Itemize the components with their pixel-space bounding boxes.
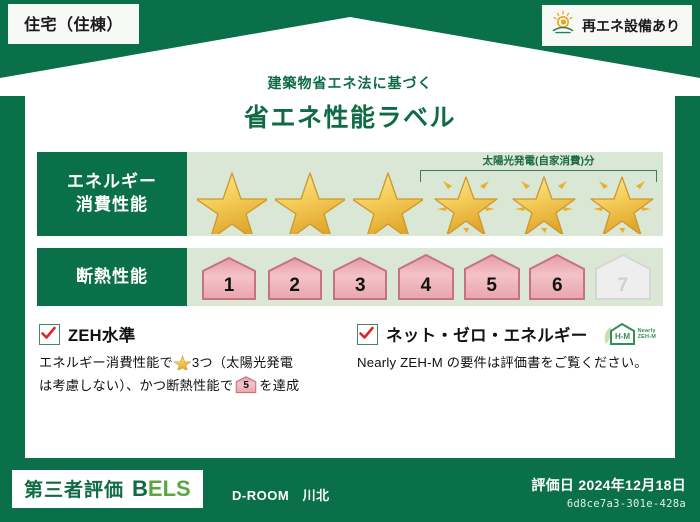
star-icon (275, 162, 345, 234)
house-grade-number: 6 (527, 275, 587, 297)
bels-badge: 第三者評価 BELS (12, 470, 203, 508)
house-grade-number: 4 (396, 275, 456, 297)
label-footer: 第三者評価 BELS D-ROOM 川北 評価日 2024年12月18日 6d8… (0, 458, 700, 522)
star-sparkle-icon (509, 162, 579, 234)
insulation-performance-label-box: 断熱性能 (37, 248, 187, 306)
note-title: ZEH水準 (68, 322, 136, 346)
energy-performance-row: エネルギー 消費性能 太陽光発電(自家消費)分 (37, 152, 663, 236)
house-grade-icon: 6 (527, 253, 587, 303)
building-type-label: 住宅（住棟） (24, 17, 123, 34)
note-header: ZEH水準 (39, 322, 343, 346)
bels-ja-label: 第三者評価 (24, 475, 124, 502)
bels-letters-els: ELS (148, 476, 191, 501)
house-grade-icon: 2 (265, 253, 325, 303)
energy-stars-panel: 太陽光発電(自家消費)分 (187, 152, 663, 236)
evaluation-meta: 評価日 2024年12月18日 6d8ce7a3-301e-428a (531, 475, 686, 510)
note-text-stars: 3つ（太陽光発電 (192, 355, 293, 370)
solar-sun-icon (550, 10, 576, 41)
renewable-equipment-label: 再エネ設備あり (582, 16, 680, 36)
energy-label-line2: 消費性能 (76, 195, 148, 214)
insulation-performance-row: 断熱性能 1 (37, 248, 663, 306)
label-subtitle: 建築物省エネ法に基づく (25, 73, 675, 93)
house-grade-number: 7 (593, 275, 653, 297)
insulation-grade-scale: 1 2 3 (199, 252, 653, 304)
note-text-part1: エネルギー消費性能で (39, 355, 173, 370)
insulation-houses-panel: 1 2 3 (187, 248, 663, 306)
note-zeh-level: ZEH水準 エネルギー消費性能で 3つ（太陽光発電 は考慮しない）、かつ断熱性能… (39, 322, 343, 397)
note-title: ネット・ゼロ・エネルギー (386, 322, 588, 346)
label-title: 省エネ性能ラベル (25, 98, 675, 134)
house-grade-icon: 3 (330, 253, 390, 303)
insulation-label: 断熱性能 (76, 266, 148, 289)
checkmark-icon (39, 324, 60, 345)
zeh-m-house-logo: H-M Nearly ZEH-M (602, 322, 656, 346)
house-grade-icon-inactive: 7 (593, 253, 653, 303)
note-net-zero-energy: ネット・ゼロ・エネルギー H-M Nearly ZEH-M Nearly (357, 322, 661, 397)
project-name: D-ROOM 川北 (232, 485, 330, 504)
evaluation-uid: 6d8ce7a3-301e-428a (531, 498, 686, 510)
house-grade-number: 1 (199, 275, 259, 297)
svg-text:H-M: H-M (615, 332, 630, 341)
building-type-badge: 住宅（住棟） (8, 4, 139, 44)
house-grade-icon: 5 (462, 253, 522, 303)
house-grade-icon: 1 (199, 253, 259, 303)
house-grade-icon: 4 (396, 253, 456, 303)
bels-logo: BELS (132, 476, 191, 502)
energy-performance-label-box: エネルギー 消費性能 (37, 152, 187, 236)
zeh-m-caption-bottom: ZEH-M (638, 334, 656, 340)
star-rating (197, 162, 657, 234)
inline-house-icon: 5 (235, 376, 257, 394)
notes-section: ZEH水準 エネルギー消費性能で 3つ（太陽光発電 は考慮しない）、かつ断熱性能… (39, 322, 661, 397)
star-icon (197, 162, 267, 234)
note-text-part3: を達成 (259, 378, 299, 393)
note-header: ネット・ゼロ・エネルギー H-M Nearly ZEH-M (357, 322, 661, 346)
energy-performance-label: 住宅（住棟） 再エネ設備あり 建築物省エネ法に基づく 省エネ性能ラベル (0, 0, 700, 522)
star-sparkle-icon (587, 162, 657, 234)
zeh-m-caption-top: Nearly (638, 328, 656, 334)
energy-label-line1: エネルギー (67, 172, 157, 191)
renewable-equipment-badge: 再エネ設備あり (542, 5, 692, 46)
evaluation-date: 評価日 2024年12月18日 (531, 475, 686, 495)
house-grade-number: 2 (265, 275, 325, 297)
inline-star-icon (174, 358, 191, 373)
note-body: エネルギー消費性能で 3つ（太陽光発電 は考慮しない）、かつ断熱性能で 5を達成 (39, 353, 343, 397)
star-sparkle-icon (431, 162, 501, 234)
note-text-part2: は考慮しない）、かつ断熱性能で (39, 378, 233, 393)
star-icon (353, 162, 423, 234)
bels-letter-b: B (132, 476, 148, 501)
zeh-m-logo-caption: Nearly ZEH-M (638, 328, 656, 341)
checkmark-icon (357, 324, 378, 345)
label-card: 建築物省エネ法に基づく 省エネ性能ラベル エネルギー 消費性能 太陽光発電(自家… (25, 88, 675, 458)
house-grade-number: 5 (462, 275, 522, 297)
inline-house-number: 5 (235, 378, 257, 394)
house-grade-number: 3 (330, 275, 390, 297)
note-body: Nearly ZEH-M の要件は評価書をご覧ください。 (357, 353, 661, 373)
